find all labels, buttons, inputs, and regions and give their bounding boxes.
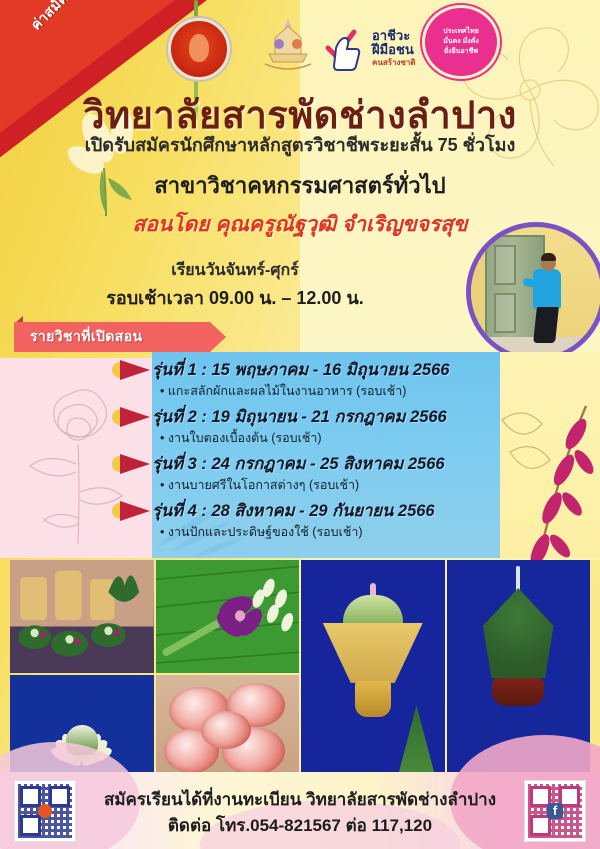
course-round-subject: งานปักและประดิษฐ์ของใช้ (รอบเช้า) [160, 522, 512, 542]
photo-person-head [541, 255, 556, 271]
badge-line-2: มั่นคง มั่งคั่ง [443, 37, 479, 47]
svg-text:ฝีมือชน: ฝีมือชน [370, 42, 414, 57]
course-round-title: รุ่นที่ 3 : 24 กรกฎาคม - 25 สิงหาคม 2566 [152, 451, 445, 477]
arrow-bullet-icon [112, 407, 152, 427]
course-round-subject: แกะสลักผักและผลไม้ในงานอาหาร (รอบเช้า) [160, 381, 512, 401]
qr-code-facebook[interactable]: f [524, 780, 586, 842]
course-round-title: รุ่นที่ 4 : 28 สิงหาคม - 29 กันยายน 2566 [152, 498, 435, 524]
gallery-column-2 [156, 560, 300, 787]
instructor-photo [466, 222, 600, 362]
qr-code-registration[interactable] [14, 780, 76, 842]
footer-contact-text: ติดต่อ โทร.054-821567 ต่อ 117,120 [82, 812, 518, 839]
branch-title: สาขาวิชาคหกรรมศาสตร์ทั่วไป [0, 168, 600, 203]
svg-text:คนสร้างชาติ: คนสร้างชาติ [372, 57, 416, 67]
page-subtitle: เปิดรับสมัครนักศึกษาหลักสูตรวิชาชีพระยะส… [0, 130, 600, 159]
banana-leaf-flower-art [156, 560, 300, 673]
ministry-emblem-icon [255, 14, 321, 76]
photo-carved-roses [156, 675, 300, 788]
badge-line-1: ประเทศไทย [443, 27, 479, 37]
course-round-subject: งานใบตองเบื้องต้น (รอบเช้า) [160, 428, 512, 448]
arrow-bullet-icon [112, 501, 152, 521]
course-round-item: รุ่นที่ 2 : 19 มิถุนายน - 21 กรกฎาคม 256… [112, 405, 512, 448]
course-round-item: รุ่นที่ 3 : 24 กรกฎาคม - 25 สิงหาคม 2566… [112, 452, 512, 495]
photo-baisri-display [10, 560, 154, 673]
footer-registration-text: สมัครเรียนได้ที่งานทะเบียน วิทยาลัยสารพั… [82, 786, 518, 813]
badge-line-3: ยั่งยืนอาชีพ [444, 47, 478, 57]
course-round-item: รุ่นที่ 4 : 28 สิงหาคม - 29 กันยายน 2566… [112, 499, 512, 542]
course-round-item: รุ่นที่ 1 : 15 พฤษภาคม - 16 มิถุนายน 256… [112, 358, 512, 401]
class-hours: รอบเช้าเวลา 09.00 น. – 12.00 น. [0, 283, 470, 312]
course-round-title: รุ่นที่ 1 : 15 พฤษภาคม - 16 มิถุนายน 256… [152, 357, 449, 383]
arrow-bullet-icon [112, 360, 152, 380]
poster-root: ด่วน!! ค่าสมัคร 385 บาท อาชีวะ ฝีมือชน ค… [0, 0, 600, 849]
carved-roses-art [162, 681, 294, 782]
photo-banana-leaf-flower [156, 560, 300, 673]
arrow-bullet-icon [112, 454, 152, 474]
photo-person-legs [533, 307, 559, 343]
royal-seal-emblem-icon [168, 18, 230, 80]
course-round-header: รุ่นที่ 1 : 15 พฤษภาคม - 16 มิถุนายน 256… [112, 358, 512, 382]
qr-center-logo [38, 804, 52, 818]
facebook-icon: f [547, 803, 563, 819]
course-rounds-list: รุ่นที่ 1 : 15 พฤษภาคม - 16 มิถุนายน 256… [112, 358, 512, 546]
photo-person-body [533, 269, 561, 309]
course-round-header: รุ่นที่ 3 : 24 กรกฎาคม - 25 สิงหาคม 2566 [112, 452, 512, 476]
course-round-header: รุ่นที่ 4 : 28 สิงหาคม - 29 กันยายน 2566 [112, 499, 512, 523]
svg-text:อาชีวะ: อาชีวะ [372, 28, 410, 43]
thailand-badge-icon: ประเทศไทย มั่นคง มั่งคั่ง ยั่งยืนอาชีพ [425, 8, 497, 76]
photo-gallery [10, 560, 590, 772]
course-round-title: รุ่นที่ 2 : 19 มิถุนายน - 21 กรกฎาคม 256… [152, 404, 447, 430]
course-round-subject: งานบายศรีในโอกาสต่างๆ (รอบเช้า) [160, 475, 512, 495]
class-days: เรียนวันจันทร์-ศุกร์ [0, 258, 470, 283]
baisri-display-art [10, 560, 154, 673]
photo-baisri-tray [301, 560, 445, 789]
achiwa-logo-icon: อาชีวะ ฝีมือชน คนสร้างชาติ [322, 22, 442, 72]
course-list-banner: รายวิชาที่เปิดสอน [14, 322, 226, 352]
baisri-tray-art [321, 583, 425, 733]
course-list-banner-label: รายวิชาที่เปิดสอน [30, 326, 143, 348]
course-round-header: รุ่นที่ 2 : 19 มิถุนายน - 21 กรกฎาคม 256… [112, 405, 512, 429]
